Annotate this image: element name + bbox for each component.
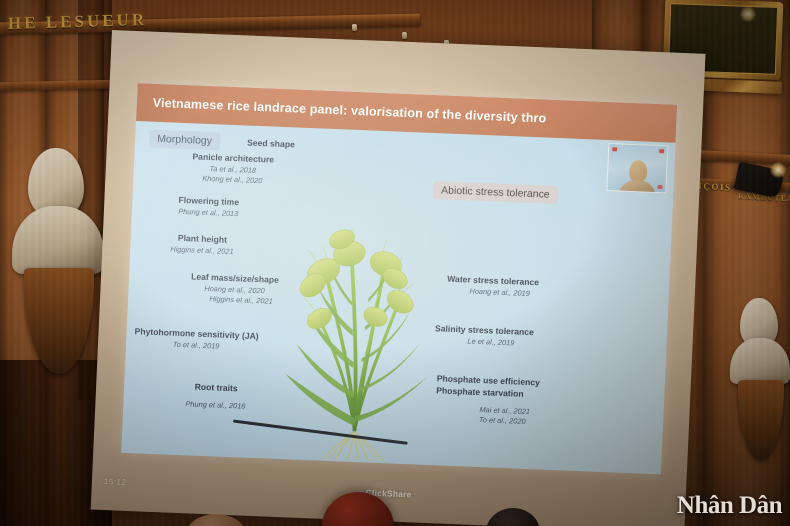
nhan-dan-watermark: Nhân Dân	[677, 492, 782, 520]
image-vignette	[0, 0, 790, 526]
